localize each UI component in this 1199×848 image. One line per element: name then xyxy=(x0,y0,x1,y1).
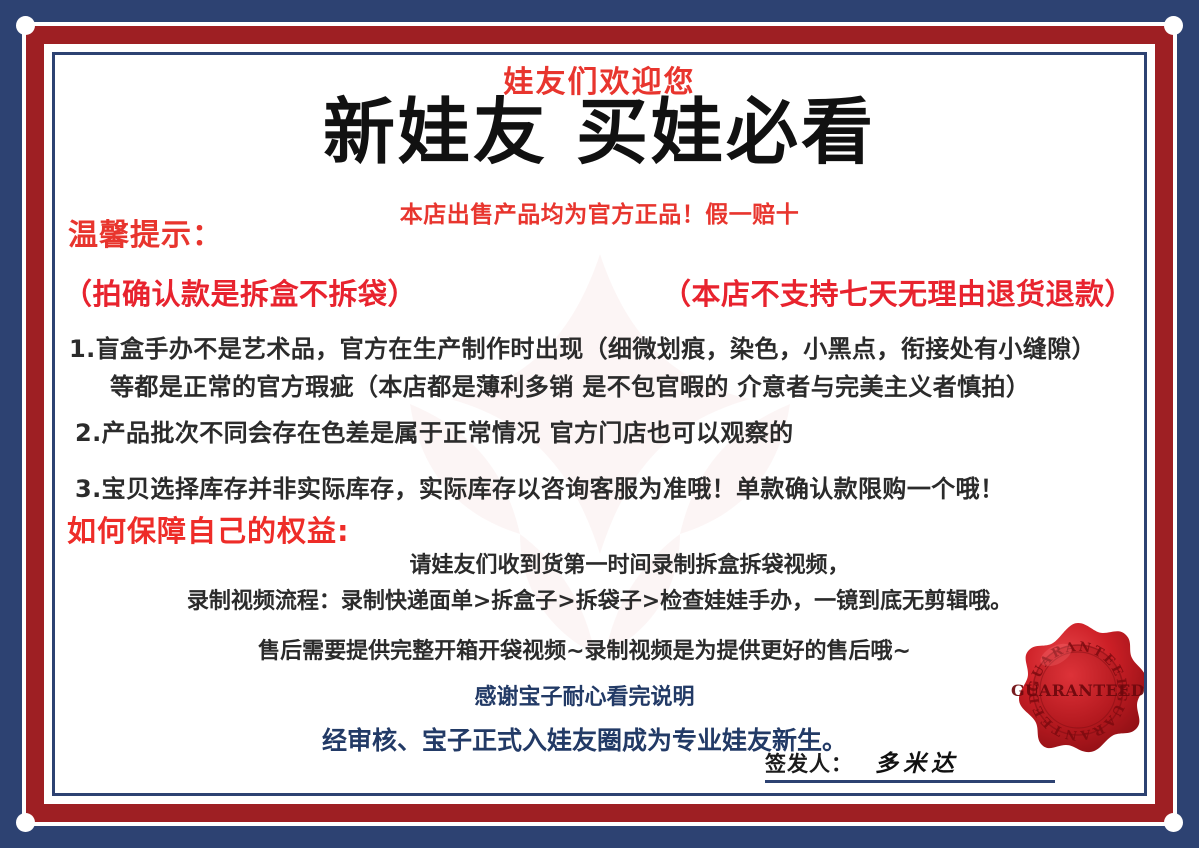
thanks-message: 感谢宝子耐心看完说明 xyxy=(55,679,1144,711)
guaranteed-wax-seal-icon: GUARANTEED GUARANTEED GUARANTEED xyxy=(1006,619,1144,763)
corner-dot-top-left xyxy=(16,16,35,35)
corner-dot-top-right xyxy=(1164,16,1183,35)
protect-rights-label: 如何保障自己的权益: xyxy=(67,508,350,550)
seal-center-text: GUARANTEED xyxy=(1011,681,1144,700)
signature-name: 多米达 xyxy=(875,744,959,778)
signature-label: 签发人： xyxy=(765,748,853,778)
notice-unbox-policy: （拍确认款是拆盒不拆袋） xyxy=(63,271,417,313)
notice-row: （拍确认款是拆盒不拆袋） （本店不支持七天无理由退货退款） xyxy=(55,271,1144,313)
corner-dot-bottom-right xyxy=(1164,813,1183,832)
rule-item-1-line-2: 等都是正常的官方瑕疵（本店都是薄利多销 是不包官暇的 介意者与完美主义者慎拍） xyxy=(110,367,1030,402)
step-record-video: 请娃友们收到货第一时间录制拆盒拆袋视频， xyxy=(55,547,1144,579)
step-video-process: 录制视频流程：录制快递面单>拆盒子>拆袋子>检查娃娃手办，一镜到底无剪辑哦。 xyxy=(55,583,1144,615)
rule-item-2: 2.产品批次不同会存在色差是属于正常情况 官方门店也可以观察的 xyxy=(75,413,794,448)
rule-item-3: 3.宝贝选择库存并非实际库存，实际库存以咨询客服为准哦！单款确认款限购一个哦！ xyxy=(75,469,1004,504)
poster-content: 娃友们欢迎您 新娃友 买娃必看 本店出售产品均为官方正品！假一赔十 温馨提示： … xyxy=(55,55,1144,793)
page-title: 新娃友 买娃必看 xyxy=(55,95,1144,171)
rule-item-1-line-1: 1.盲盒手办不是艺术品，官方在生产制作时出现（细微划痕，染色，小黑点，衔接处有小… xyxy=(69,329,1096,364)
notice-return-policy: （本店不支持七天无理由退货退款） xyxy=(662,271,1134,313)
corner-dot-bottom-left xyxy=(16,813,35,832)
step-aftersales-video: 售后需要提供完整开箱开袋视频~录制视频是为提供更好的售后哦~ xyxy=(55,633,1144,665)
warm-tip-label: 温馨提示： xyxy=(68,210,223,254)
poster-canvas: 娃友们欢迎您 新娃友 买娃必看 本店出售产品均为官方正品！假一赔十 温馨提示： … xyxy=(0,0,1199,848)
